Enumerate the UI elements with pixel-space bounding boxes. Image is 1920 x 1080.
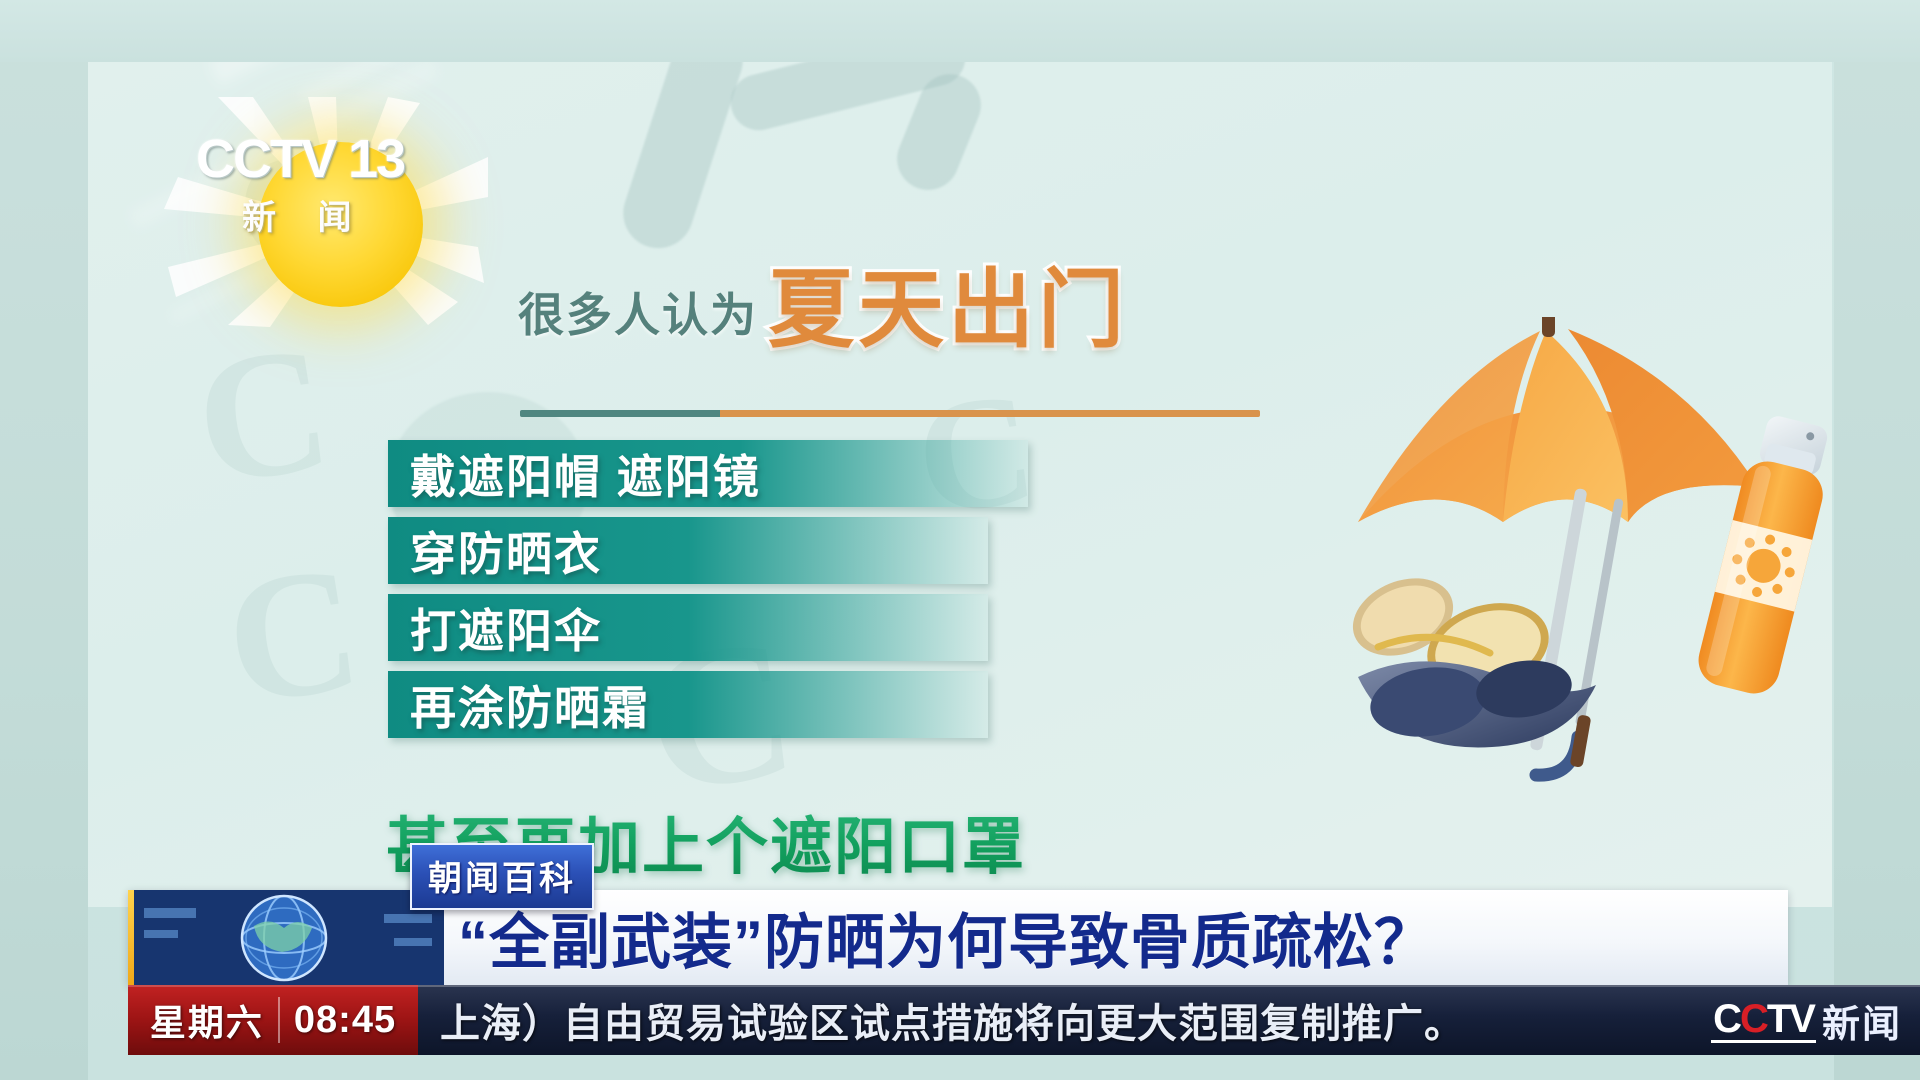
lower-third-bar: “全副武装”防晒为何导致骨质疏松？ (128, 890, 1788, 985)
ticker-logo-subtitle: 新闻 (1822, 993, 1902, 1048)
list-item-label: 穿防晒衣 (410, 518, 602, 584)
news-ticker: 星期六 08:45 上海）自由贸易试验区试点措施将向更大范围复制推广。 CCTV… (128, 985, 1920, 1055)
clock-divider (278, 997, 280, 1043)
list-item-label: 再涂防晒霜 (410, 672, 650, 738)
list-item: 戴遮阳帽 遮阳镜 (388, 440, 1028, 507)
list-item-label: 打遮阳伞 (410, 595, 602, 661)
bullet-list: 戴遮阳帽 遮阳镜 穿防晒衣 打遮阳伞 再涂防晒霜 (388, 440, 1028, 748)
ticker-text: 上海）自由贸易试验区试点措施将向更大范围复制推广。 (418, 991, 1711, 1049)
graphic-title: 很多人认为 夏天出门 (518, 267, 1128, 353)
list-item: 穿防晒衣 (388, 517, 988, 584)
category-badge-label: 朝闻百科 (428, 860, 576, 898)
headline-text: “全副武装”防晒为何导致骨质疏松？ (458, 894, 1435, 981)
globe-icon (134, 890, 444, 985)
ticker-logo-cctv: CCTV (1711, 998, 1816, 1043)
graphic-panel: C C C C C (88, 62, 1832, 907)
broadcast-screen: C C C C C (0, 0, 1920, 1080)
cctv-logo-subtitle: 新 闻 (242, 190, 446, 239)
watermark-letter: C (214, 525, 362, 747)
top-edge-strip (0, 0, 1920, 62)
title-prefix-text: 很多人认为 (518, 279, 758, 353)
weekday-label: 星期六 (150, 994, 264, 1046)
watermark-letter: C (184, 305, 332, 527)
right-edge-strip (1834, 0, 1920, 1080)
list-item-label: 戴遮阳帽 遮阳镜 (410, 441, 761, 507)
sun-protection-illustration (1328, 317, 1832, 847)
list-item: 打遮阳伞 (388, 594, 988, 661)
left-edge-strip (0, 0, 88, 1080)
light-streak (208, 62, 683, 85)
cctv-logo-text: CCTV 13 (196, 132, 446, 186)
runner-silhouette (614, 62, 752, 257)
cctv13-logo: CCTV 13 新 闻 (196, 132, 446, 252)
list-item: 再涂防晒霜 (388, 671, 988, 738)
clock-box: 星期六 08:45 (128, 985, 418, 1055)
title-underline (520, 410, 1260, 417)
ticker-cctv-logo: CCTV 新闻 (1711, 993, 1920, 1048)
time-label: 08:45 (294, 999, 396, 1042)
category-badge: 朝闻百科 (410, 843, 594, 910)
cctv-red-accent: C (1740, 997, 1767, 1041)
title-main-text: 夏天出门 (768, 267, 1128, 353)
